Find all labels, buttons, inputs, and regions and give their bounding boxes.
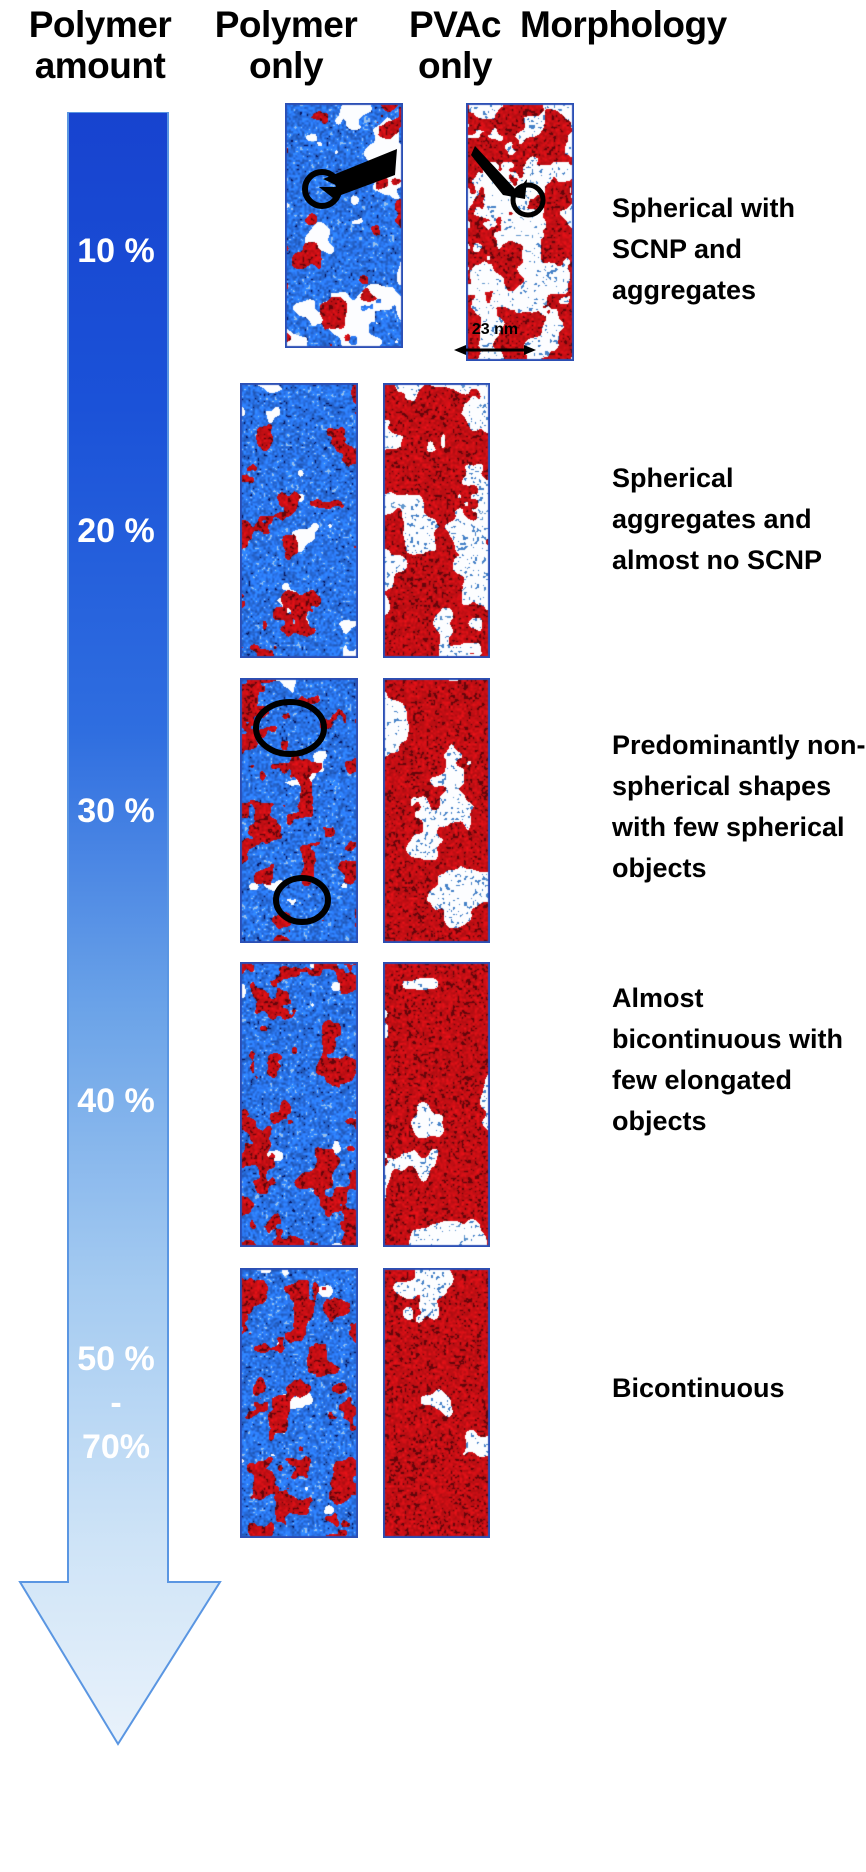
- scale-bar-label: 23 nm: [452, 322, 538, 338]
- morphology-text-40: Almost bicontinuous with few elongated o…: [612, 978, 866, 1142]
- column-header-pvac-only: PVAc only: [380, 4, 530, 87]
- arrow-label-50: 50 %: [46, 1340, 186, 1379]
- micrograph-polymer-only-20: [240, 383, 358, 658]
- arrow-label-30: 30 %: [46, 792, 186, 831]
- header-line-2: amount: [10, 45, 190, 86]
- arrow-label-70: 70%: [46, 1428, 186, 1467]
- micrograph-pvac-only-40: [383, 962, 490, 1247]
- header-line-2: only: [380, 45, 530, 86]
- micrograph-polymer-only-10: [285, 103, 403, 348]
- polymer-amount-gradient-arrow: 10 % 20 % 30 % 40 % 50 % - 70%: [18, 112, 224, 1752]
- column-header-morphology: Morphology: [520, 4, 866, 45]
- header-line-1: Polymer: [196, 4, 376, 45]
- double-headed-arrow-icon: [452, 340, 538, 360]
- micrograph-pvac-only-30: [383, 678, 490, 943]
- arrow-label-40: 40 %: [46, 1082, 186, 1121]
- arrow-label-10: 10 %: [46, 232, 186, 271]
- arrow-shape-svg: [18, 112, 224, 1752]
- morphology-text-50-70: Bicontinuous: [612, 1368, 866, 1409]
- column-header-polymer-only: Polymer only: [196, 4, 376, 87]
- scale-bar: 23 nm: [452, 322, 538, 362]
- micrograph-polymer-only-40: [240, 962, 358, 1247]
- micrograph-polymer-only-50-70: [240, 1268, 358, 1538]
- micrograph-pvac-only-50-70: [383, 1268, 490, 1538]
- morphology-text-20: Spherical aggregates and almost no SCNP: [612, 458, 866, 581]
- arrow-label-dash: -: [46, 1384, 186, 1423]
- morphology-text-10: Spherical with SCNP and aggregates: [612, 188, 866, 311]
- column-header-polymer-amount: Polymer amount: [10, 4, 190, 87]
- header-line-1: Polymer: [10, 4, 190, 45]
- morphology-text-30: Predominantly non-spherical shapes with …: [612, 725, 866, 889]
- header-line-1: PVAc: [380, 4, 530, 45]
- header-line-2: only: [196, 45, 376, 86]
- micrograph-polymer-only-30: [240, 678, 358, 943]
- arrow-label-20: 20 %: [46, 512, 186, 551]
- micrograph-pvac-only-20: [383, 383, 490, 658]
